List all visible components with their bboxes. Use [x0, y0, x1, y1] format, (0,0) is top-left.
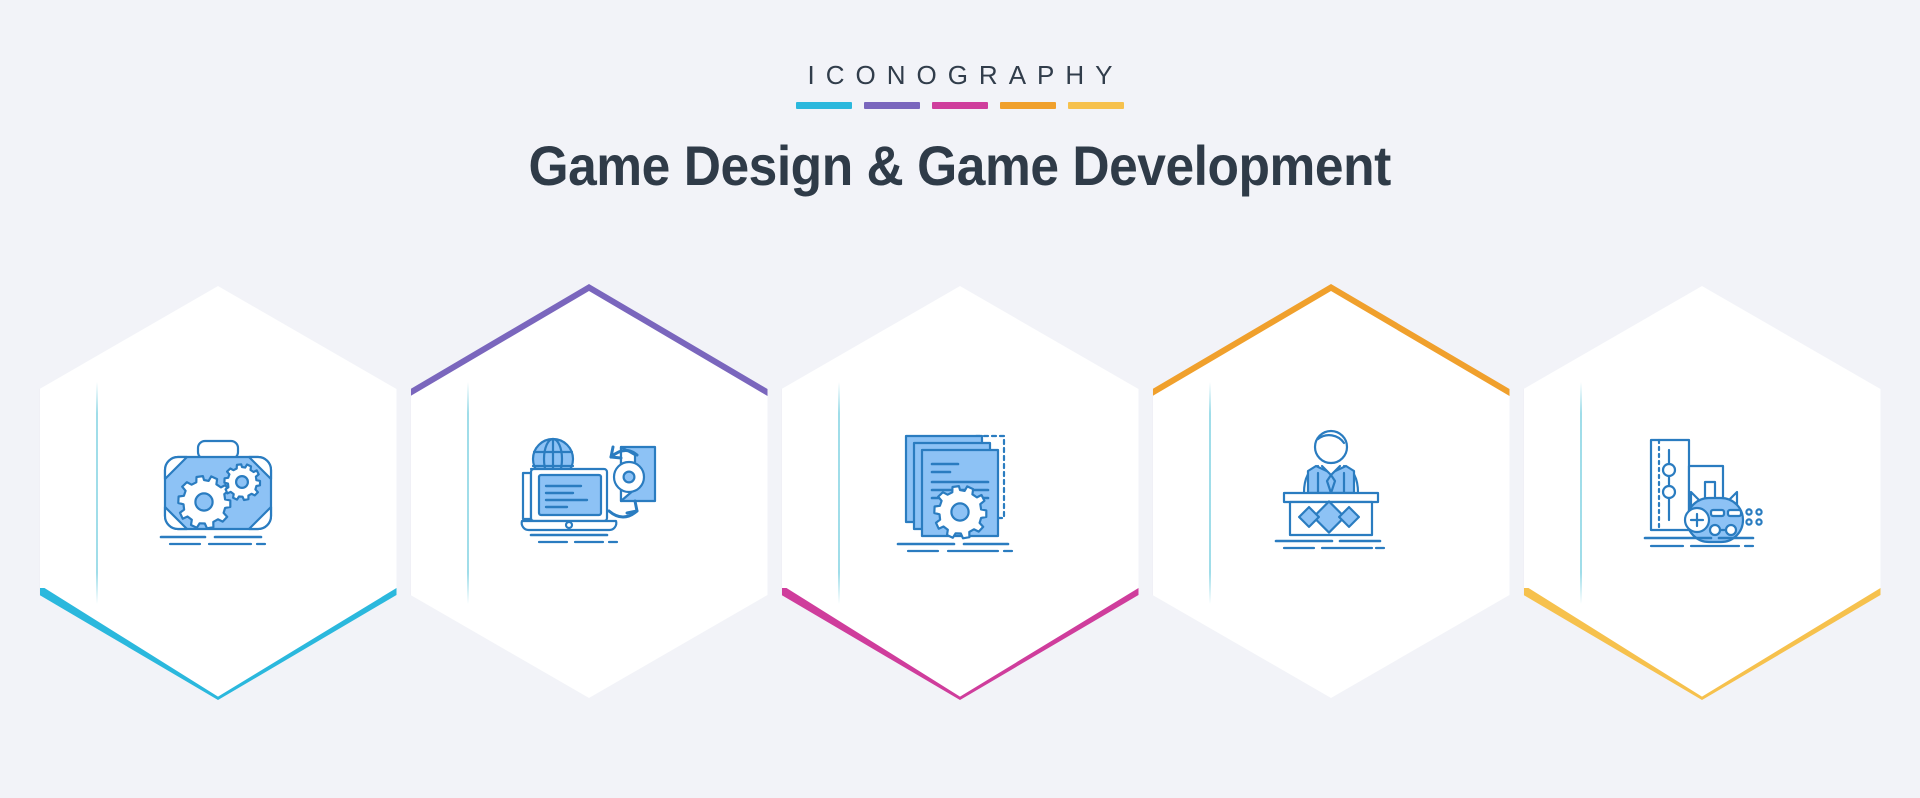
laptop-globe-disc-sync-icon [411, 286, 768, 698]
color-swatch-bars [796, 102, 1124, 109]
icon-tile-2[interactable] [411, 286, 768, 698]
icon-tile-5[interactable] [1524, 286, 1881, 698]
console-gamepad-icon [1524, 286, 1881, 698]
bar-cyan [796, 102, 852, 109]
icon-tile-1[interactable] [40, 286, 397, 698]
bar-orange [1000, 102, 1056, 109]
icon-tile-3[interactable] [782, 286, 1139, 698]
bar-magenta [932, 102, 988, 109]
presenter-podium-icon [1153, 286, 1510, 698]
icon-tile-4[interactable] [1153, 286, 1510, 698]
bar-amber [1068, 102, 1124, 109]
header: ICONOGRAPHY Game Design & Game Developme… [0, 0, 1920, 197]
briefcase-gears-icon [40, 286, 397, 698]
page-title: Game Design & Game Development [529, 135, 1391, 197]
page-kicker: ICONOGRAPHY [796, 62, 1123, 88]
icon-hexagon-row [0, 286, 1920, 706]
iconography-preview-canvas: ICONOGRAPHY Game Design & Game Developme… [0, 0, 1920, 798]
documents-gear-icon [782, 286, 1139, 698]
bar-purple [864, 102, 920, 109]
